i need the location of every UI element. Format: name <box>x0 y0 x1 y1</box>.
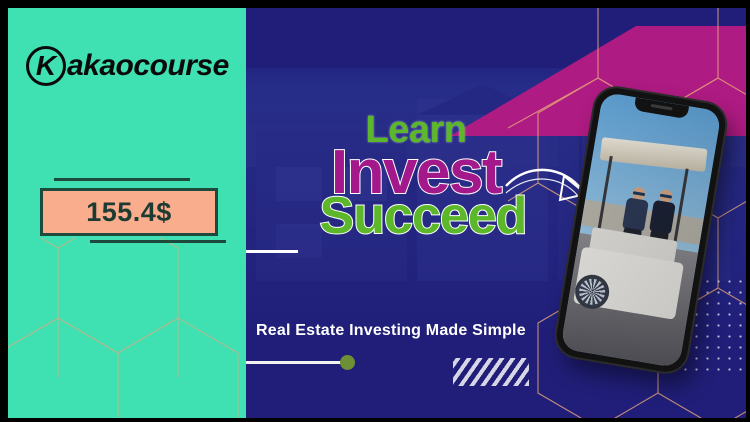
logo-mark-letter: K <box>36 52 56 80</box>
price-badge: 155.4$ <box>40 188 220 236</box>
price-value: 155.4$ <box>86 197 172 228</box>
headline-line-succeed: Succeed <box>270 193 576 241</box>
brand-logo[interactable]: K akaocourse <box>26 46 229 86</box>
headline-group: Learn Invest Succeed <box>256 112 576 241</box>
phone-speaker <box>650 104 672 111</box>
subtitle-text: Real Estate Investing Made Simple <box>256 322 526 340</box>
logo-k-mark-icon: K <box>26 46 66 86</box>
promo-banner: Learn Invest Succeed Real Estate Investi… <box>0 0 750 422</box>
decorative-rule-upper <box>246 250 298 253</box>
decorative-rule-lower <box>246 361 344 364</box>
accent-dot <box>340 355 355 370</box>
logo-wordmark: akaocourse <box>67 49 229 83</box>
diagonal-stripes-decoration <box>453 358 529 386</box>
banner-stage: Learn Invest Succeed Real Estate Investi… <box>8 8 750 422</box>
hexagon-line-decoration-left <box>8 238 246 422</box>
mint-panel: K akaocourse 155.4$ <box>8 8 246 422</box>
price-accent-line-bottom <box>90 240 226 243</box>
price-badge-box: 155.4$ <box>40 188 218 236</box>
price-accent-line-top <box>54 178 190 181</box>
